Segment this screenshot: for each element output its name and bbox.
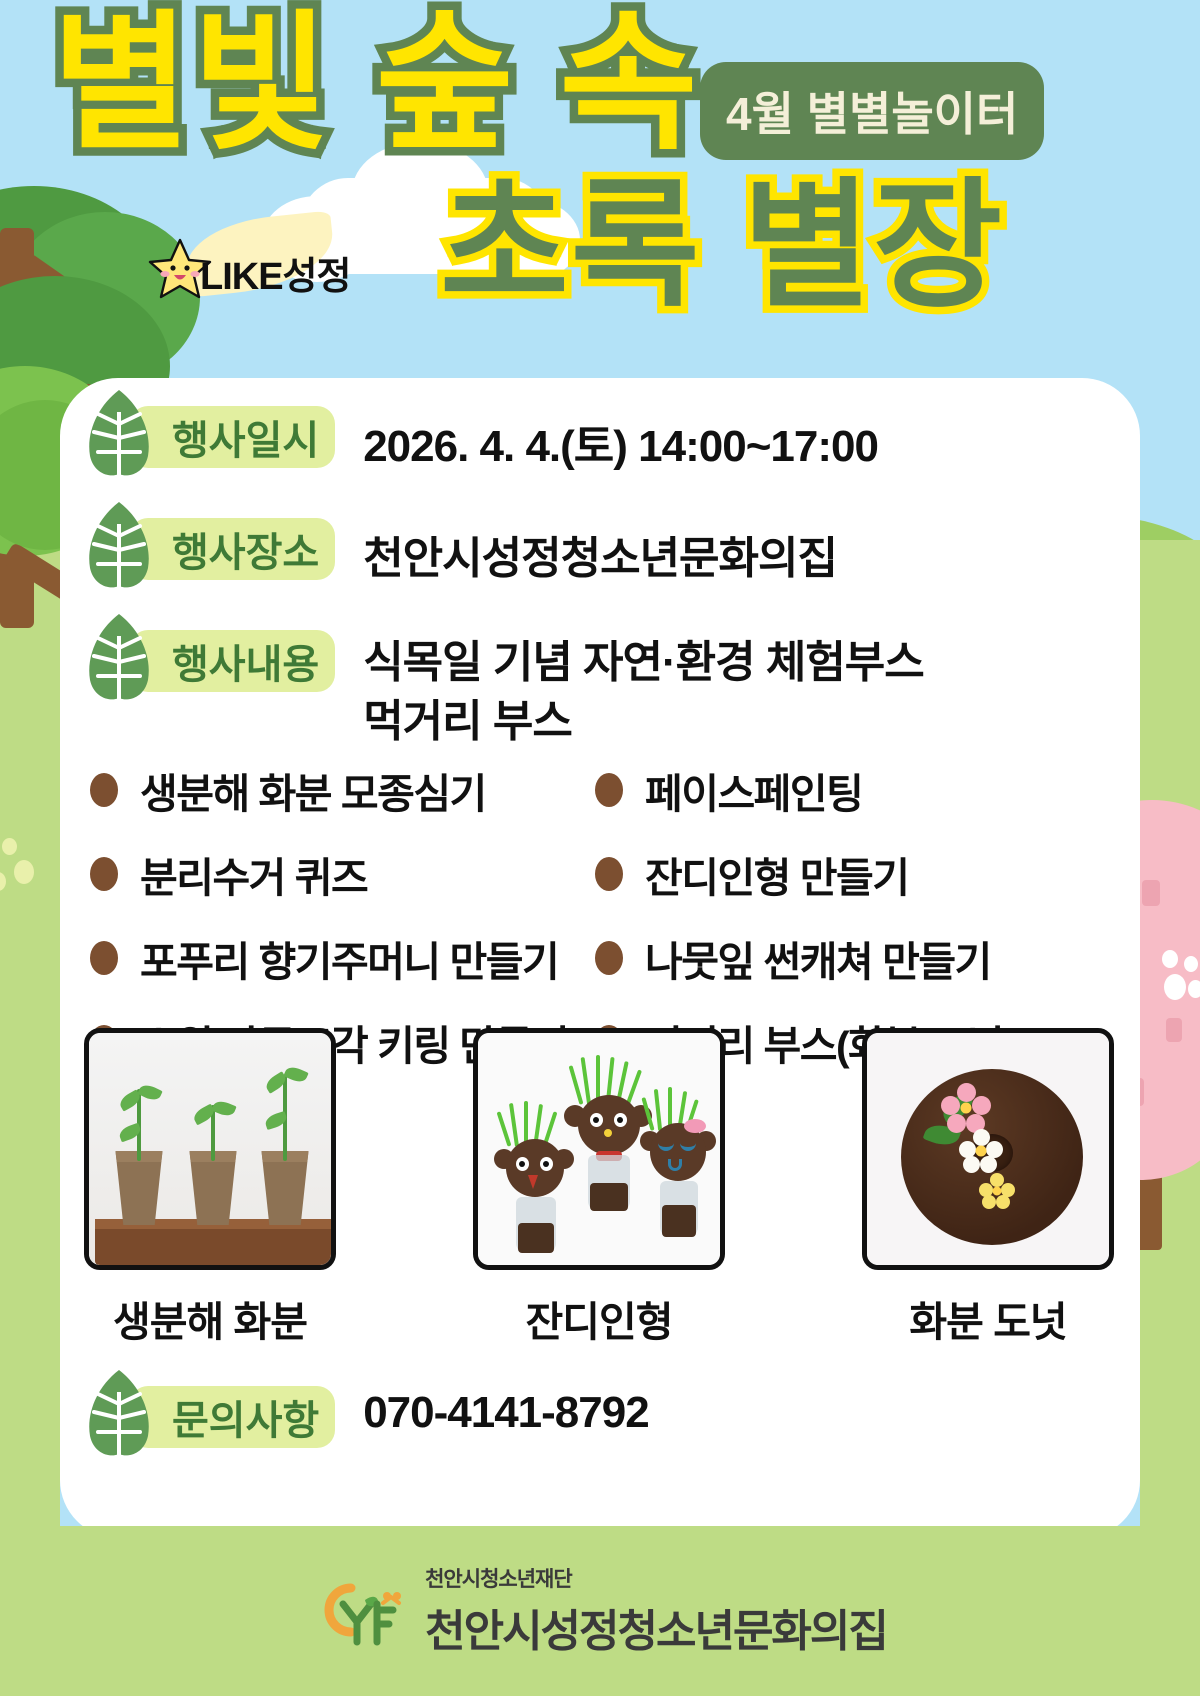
contact-phone[interactable]: 070-4141-8792 <box>363 1388 648 1438</box>
brand-label: LIKE성정 <box>200 245 350 300</box>
pink-flower <box>941 1083 991 1133</box>
blossom-dot <box>1166 1018 1182 1042</box>
poster-title-line2: 초록 별장 <box>440 176 1004 316</box>
info-row-description: 행사내용 식목일 기념 자연·환경 체험부스 먹거리 부스 <box>82 610 924 752</box>
doll-eye <box>516 1157 529 1171</box>
doll-eye <box>614 1113 627 1127</box>
doll-nose <box>604 1129 612 1137</box>
info-label-place: 행사장소 <box>130 518 335 580</box>
info-value-place: 천안시성정청소년문화의집 <box>363 522 837 586</box>
doll-head <box>578 1095 640 1155</box>
bullet-dot-icon <box>595 773 623 807</box>
bullet-dot-icon <box>90 857 118 891</box>
white-flower <box>959 1129 1003 1173</box>
biodegradable-pots-photo <box>89 1033 331 1265</box>
flower-pot-donut-photo <box>867 1033 1109 1265</box>
list-item: 생분해 화분 모종심기 <box>90 760 595 820</box>
info-label-description: 행사내용 <box>130 630 335 692</box>
yellow-flower <box>979 1173 1015 1209</box>
leaf-icon <box>82 386 156 482</box>
list-item: 페이스페인팅 <box>595 760 862 820</box>
list-item: 나뭇잎 썬캐쳐 만들기 <box>595 928 991 988</box>
soil <box>662 1205 696 1237</box>
grass-band-left <box>0 540 60 1696</box>
bullet-dot-icon <box>595 857 623 891</box>
photo-caption: 화분 도넛 <box>862 1288 1114 1348</box>
info-label-date: 행사일시 <box>130 406 335 468</box>
doll-eye <box>540 1157 553 1171</box>
program-row: 분리수거 퀴즈 잔디인형 만들기 <box>90 832 1110 916</box>
poster-header: 별빛 숲 속 초록 별장 4월 별별놀이터 LIKE성정 <box>0 0 1200 380</box>
info-value-description: 식목일 기념 자연·환경 체험부스 먹거리 부스 <box>363 634 924 752</box>
bullet-dot-icon <box>90 941 118 975</box>
blossom-dot <box>1142 880 1160 906</box>
poster-footer: 천안시청소년재단 천안시성정청소년문화의집 <box>0 1526 1200 1696</box>
organization-logo: 천안시청소년재단 천안시성정청소년문화의집 <box>313 1563 887 1659</box>
program-label: 잔디인형 만들기 <box>645 844 908 904</box>
contact-row: 문의사항 070-4141-8792 <box>82 1366 649 1462</box>
program-label: 분리수거 퀴즈 <box>140 844 367 904</box>
info-row-date: 행사일시 2026. 4. 4.(토) 14:00~17:00 <box>82 386 878 482</box>
program-row: 생분해 화분 모종심기 페이스페인팅 <box>90 748 1110 832</box>
leaf-icon <box>82 610 156 706</box>
leaf-icon <box>82 1366 156 1462</box>
month-badge: 4월 별별놀이터 <box>700 62 1044 160</box>
list-item: 분리수거 퀴즈 <box>90 844 595 904</box>
program-label: 페이스페인팅 <box>645 760 862 820</box>
doll-eye <box>590 1113 603 1127</box>
cyf-sprout-logo-icon <box>313 1576 409 1646</box>
soil <box>518 1223 554 1253</box>
seedling-leaf <box>137 1082 162 1103</box>
seedling-leaf <box>283 1064 308 1085</box>
wood-slab <box>95 1219 335 1265</box>
doll-head <box>506 1139 564 1197</box>
organization-text: 천안시청소년재단 천안시성정청소년문화의집 <box>425 1563 887 1659</box>
list-item: 잔디인형 만들기 <box>595 844 908 904</box>
foundation-name: 천안시청소년재단 <box>425 1563 887 1593</box>
photo-card-dolls: 잔디인형 <box>473 1028 725 1348</box>
contact-label: 문의사항 <box>130 1386 335 1448</box>
program-label: 나뭇잎 썬캐쳐 만들기 <box>645 928 991 988</box>
leaf-icon <box>82 498 156 594</box>
paw-print-left <box>0 838 40 898</box>
photo-card-pots: 생분해 화분 <box>84 1028 336 1348</box>
poster-title-line1: 별빛 숲 속 <box>52 8 699 158</box>
bullet-dot-icon <box>90 773 118 807</box>
soil <box>590 1183 628 1211</box>
doll-bow <box>684 1119 706 1133</box>
paw-print-right <box>1158 950 1200 1012</box>
grass-head-dolls-photo <box>478 1033 720 1265</box>
photo-frame <box>862 1028 1114 1270</box>
peat-pot <box>111 1151 167 1225</box>
seedling-leaf <box>211 1098 236 1118</box>
photo-frame <box>84 1028 336 1270</box>
bullet-dot-icon <box>595 941 623 975</box>
center-name: 천안시성정청소년문화의집 <box>425 1595 887 1659</box>
peat-pot <box>257 1151 313 1225</box>
peat-pot <box>185 1151 241 1225</box>
photo-caption: 생분해 화분 <box>84 1288 336 1348</box>
photo-frame <box>473 1028 725 1270</box>
list-item: 포푸리 향기주머니 만들기 <box>90 928 595 988</box>
info-value-date: 2026. 4. 4.(토) 14:00~17:00 <box>363 410 878 474</box>
program-label: 생분해 화분 모종심기 <box>140 760 486 820</box>
content-card: 행사일시 2026. 4. 4.(토) 14:00~17:00 행사장소 천안시… <box>60 378 1140 1538</box>
photo-gallery: 생분해 화분 <box>84 1028 1114 1348</box>
photo-caption: 잔디인형 <box>473 1288 725 1348</box>
photo-card-donut: 화분 도넛 <box>862 1028 1114 1348</box>
program-label: 포푸리 향기주머니 만들기 <box>140 928 558 988</box>
info-row-place: 행사장소 천안시성정청소년문화의집 <box>82 498 837 594</box>
program-row: 포푸리 향기주머니 만들기 나뭇잎 썬캐쳐 만들기 <box>90 916 1110 1000</box>
